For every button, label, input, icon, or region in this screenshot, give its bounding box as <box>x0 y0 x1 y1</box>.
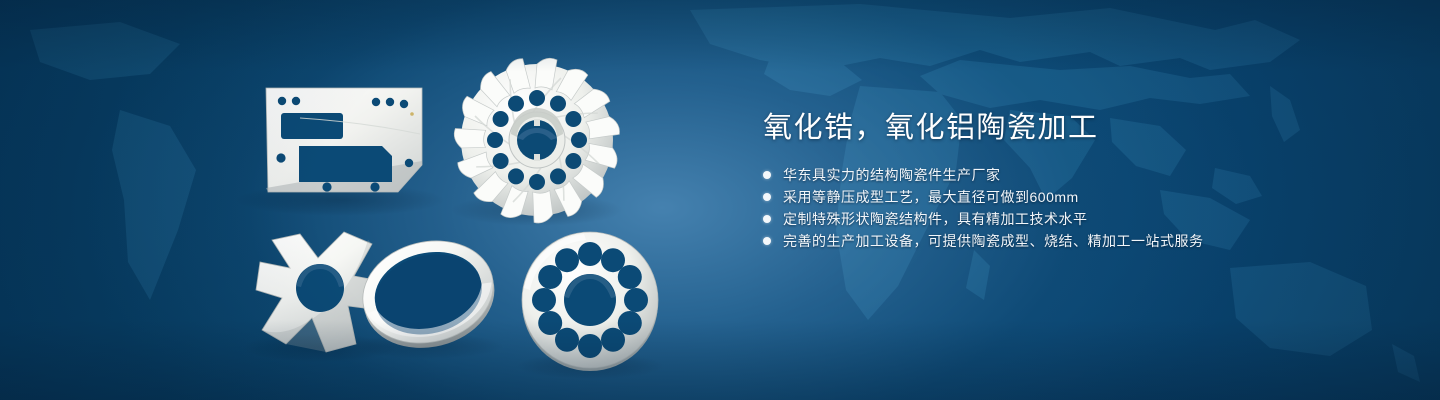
list-item: 完善的生产加工设备，可提供陶瓷成型、烧结、精加工一站式服务 <box>763 230 1403 252</box>
feature-list: 华东具实力的结构陶瓷件生产厂家 采用等静压成型工艺，最大直径可做到600mm 定… <box>763 164 1403 252</box>
bullet-circle-icon <box>763 237 771 245</box>
bullet-circle-icon <box>763 215 771 223</box>
feature-text: 完善的生产加工设备，可提供陶瓷成型、烧结、精加工一站式服务 <box>783 230 1204 252</box>
hero-banner: 氧化锆，氧化铝陶瓷加工 华东具实力的结构陶瓷件生产厂家 采用等静压成型工艺，最大… <box>0 0 1440 400</box>
bullet-circle-icon <box>763 193 771 201</box>
list-item: 华东具实力的结构陶瓷件生产厂家 <box>763 164 1403 186</box>
page-title: 氧化锆，氧化铝陶瓷加工 <box>763 108 1403 148</box>
feature-text: 采用等静压成型工艺，最大直径可做到600mm <box>783 186 1079 208</box>
feature-text: 华东具实力的结构陶瓷件生产厂家 <box>783 164 1001 186</box>
bullet-circle-icon <box>763 171 771 179</box>
list-item: 定制特殊形状陶瓷结构件，具有精加工技术水平 <box>763 208 1403 230</box>
list-item: 采用等静压成型工艺，最大直径可做到600mm <box>763 186 1403 208</box>
feature-text: 定制特殊形状陶瓷结构件，具有精加工技术水平 <box>783 208 1088 230</box>
banner-copy: 氧化锆，氧化铝陶瓷加工 华东具实力的结构陶瓷件生产厂家 采用等静压成型工艺，最大… <box>763 108 1403 252</box>
